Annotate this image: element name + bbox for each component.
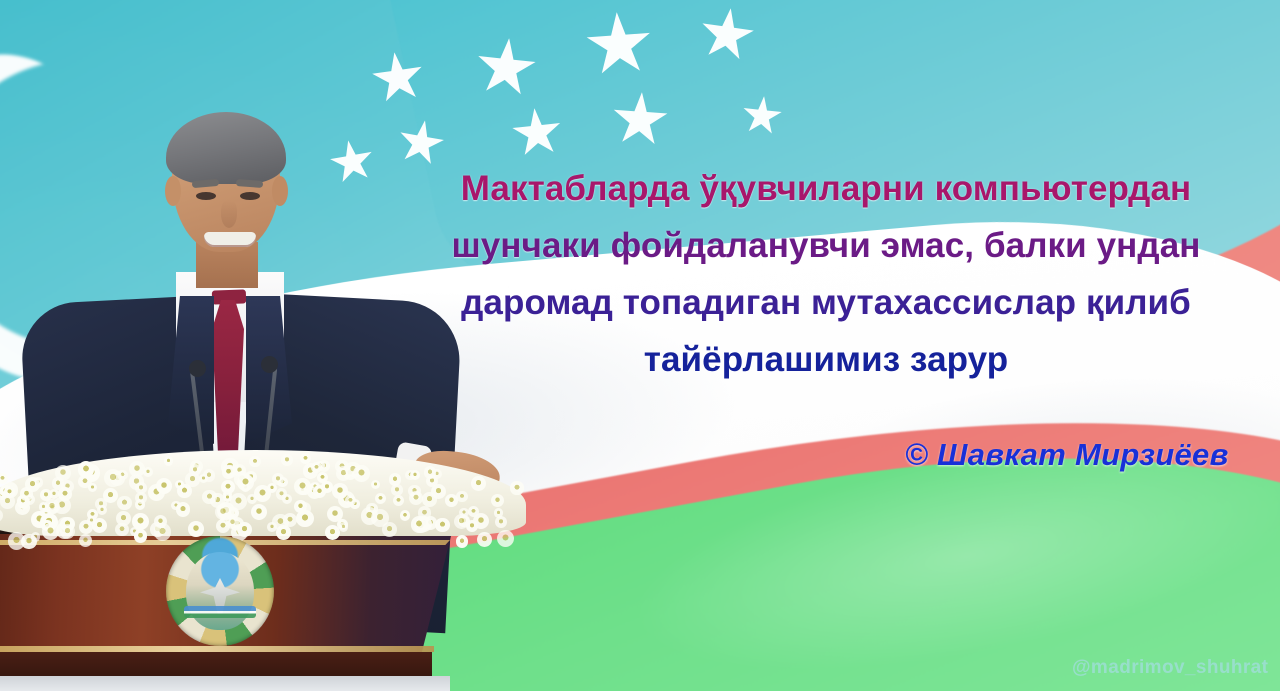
flower-petal (468, 506, 479, 517)
flower-petal (267, 522, 277, 532)
flower-petal (176, 502, 190, 516)
flower-petal (40, 489, 52, 501)
quote-line-4: тайёрлашимиз зарур (386, 331, 1266, 388)
flower-petal (371, 509, 389, 527)
flower-petal (456, 535, 468, 547)
flower-petal (353, 465, 370, 482)
flower-petal (294, 478, 311, 495)
emblem-flag-ribbon (184, 606, 256, 618)
flower-petal (375, 493, 386, 504)
hair (166, 112, 286, 184)
microphone-icon-1 (189, 360, 206, 377)
flower-petal (422, 492, 437, 507)
flower-petal (117, 496, 131, 510)
podium-base (0, 652, 432, 678)
flower-petal (164, 456, 174, 466)
flower-petal (21, 534, 36, 549)
flower-petal (410, 470, 420, 480)
flower-petal (249, 456, 261, 468)
flower-petal (25, 477, 40, 492)
quote-text-block: Мактабларда ўқувчиларни компьютердан шун… (386, 160, 1266, 388)
flower-petal (202, 490, 217, 505)
quote-attribution: © Шавкат Мирзиёев (905, 437, 1229, 473)
flower-petal (456, 491, 467, 502)
flower-petal (276, 488, 288, 500)
flower-petal (221, 480, 235, 494)
flower-petal (281, 454, 293, 466)
flower-petal (60, 524, 75, 539)
flower-petal (435, 518, 449, 532)
necktie (212, 300, 244, 462)
flower-petal (327, 506, 343, 522)
quote-line-2: шунчаки фойдаланувчи эмас, балки ундан (386, 217, 1266, 274)
mouth (204, 232, 256, 247)
flower-petal (78, 475, 92, 489)
flower-petal (317, 472, 328, 483)
flower-petal (445, 494, 457, 506)
flower-petal (325, 525, 340, 540)
flower-petal (116, 511, 131, 526)
quote-line-3: даромад топадиган мутахассислар қилиб (386, 274, 1266, 331)
watermark-handle: @madrimov_shuhrat (1072, 657, 1268, 679)
flower-petal (199, 474, 208, 483)
flower-petal (294, 500, 307, 513)
banner-image: Мактабларда ўқувчиларни компьютердан шун… (0, 0, 1280, 691)
flower-petal (185, 472, 200, 487)
ear-right (272, 176, 288, 206)
flower-petal (4, 486, 15, 497)
flower-petal (104, 469, 122, 487)
flower-petal (135, 492, 147, 504)
eye-left (196, 192, 216, 200)
flower-petal (216, 519, 230, 533)
flower-petal (276, 525, 291, 540)
microphone-icon-2 (261, 356, 278, 373)
uzbekistan-emblem-icon (166, 536, 274, 646)
flower-petal (495, 516, 507, 528)
ear-left (165, 176, 181, 206)
flower-petal (411, 516, 427, 532)
flower-petal (254, 485, 271, 502)
flower-petal (223, 493, 232, 502)
quote-line-1: Мактабларда ўқувчиларни компьютердан (386, 160, 1266, 217)
flower-petal (134, 529, 147, 542)
flower-petal (222, 465, 235, 478)
nose (221, 200, 237, 228)
flower-petal (272, 473, 284, 485)
flower-petal (391, 484, 403, 496)
flower-petal (393, 495, 404, 506)
floor-strip (0, 676, 450, 691)
eye-right (240, 192, 260, 200)
flower-petal (510, 481, 523, 494)
flower-petal (154, 523, 172, 541)
